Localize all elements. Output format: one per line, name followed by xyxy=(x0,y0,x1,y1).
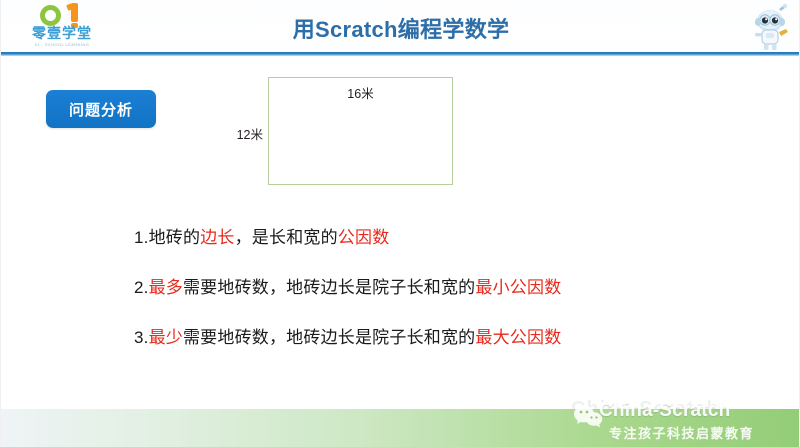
watermark-brand: China-Scratch xyxy=(599,400,730,422)
list-item-text: 需要地砖数，地砖边长是院子长和宽的 xyxy=(183,278,475,297)
list-item-text: ，是长和宽的 xyxy=(235,228,338,247)
header-divider xyxy=(1,52,800,56)
slide-header: 零壹学堂 01 - SCHOOL LEARNING 用Scratch编程学数学 xyxy=(1,0,800,54)
highlighted-term: 边长 xyxy=(200,228,234,247)
list-item-text: 需要地砖数，地砖边长是院子长和宽的 xyxy=(183,328,475,347)
yard-height-label: 12米 xyxy=(211,124,263,143)
watermark: China-Scratch China-Scratch 专注孩子科技启蒙教育 xyxy=(561,398,800,444)
list-item-index: 3. xyxy=(134,328,149,347)
list-item-index: 2. xyxy=(134,278,149,297)
analysis-points-list: 1.地砖的边长，是长和宽的公因数 2.最多需要地砖数，地砖边长是院子长和宽的最小… xyxy=(134,228,734,348)
highlighted-term: 最少 xyxy=(149,328,183,347)
page-title: 用Scratch编程学数学 xyxy=(1,12,800,44)
highlighted-term: 公因数 xyxy=(338,228,390,247)
list-item: 2.最多需要地砖数，地砖边长是院子长和宽的最小公因数 xyxy=(134,278,734,298)
highlighted-term: 最小公因数 xyxy=(475,278,561,297)
slide-canvas: 零壹学堂 01 - SCHOOL LEARNING 用Scratch编程学数学 xyxy=(0,0,800,447)
watermark-tagline: 专注孩子科技启蒙教育 xyxy=(609,423,754,442)
highlighted-term: 最大公因数 xyxy=(475,328,561,347)
robot-mascot-icon xyxy=(749,3,793,51)
section-tag-problem-analysis[interactable]: 问题分析 xyxy=(46,90,156,128)
yard-diagram: 16米 12米 xyxy=(211,72,471,197)
list-item-index: 1. xyxy=(134,228,149,247)
list-item-text: 地砖的 xyxy=(149,228,201,247)
list-item: 1.地砖的边长，是长和宽的公因数 xyxy=(134,228,734,248)
list-item: 3.最少需要地砖数，地砖边长是院子长和宽的最大公因数 xyxy=(134,328,734,348)
yard-width-label: 16米 xyxy=(268,83,453,102)
highlighted-term: 最多 xyxy=(149,278,183,297)
